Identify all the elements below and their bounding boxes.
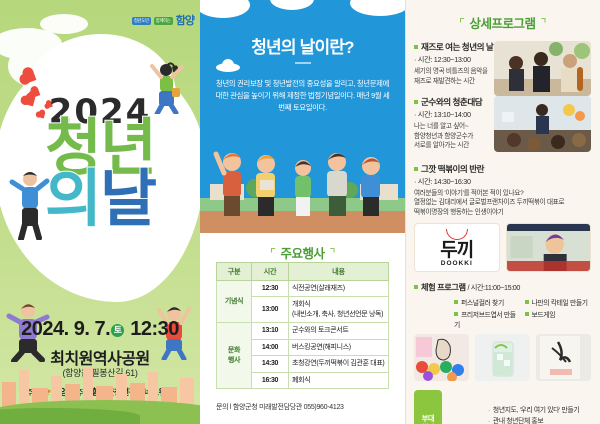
list-item: 청년지도, '우리 여기 있다' 만들기 <box>488 406 591 417</box>
students-illustration <box>200 140 405 233</box>
row-category: 문화 행사 <box>217 323 252 389</box>
left-panel: 청년도민 함께하는 함양 <box>0 0 200 424</box>
program-title: 재즈로 여는 청년의 날 <box>414 41 506 53</box>
row-time: 14:00 <box>252 339 289 355</box>
row-category: 기념식 <box>217 281 252 323</box>
experience-item-list: 퍼스널컬러 찾기 나만의 칵테일 만들기 프리저브드엽서 만들기 보드게임 <box>414 297 591 329</box>
event-date: 2024. 9. 7. <box>21 318 110 340</box>
list-item: 관내 청년단체 홍보 <box>488 417 591 424</box>
middle-paragraph: 청년의 권리보장 및 청년발전의 중요성을 알리고, 청년문제에 대한 관심을 … <box>214 78 391 115</box>
program-item: 재즈로 여는 청년의 날 · 시간: 12:30~13:00 세기의 명곡 비틀… <box>414 41 591 86</box>
list-item: 보드게임 <box>525 309 592 329</box>
day-of-week-badge: 토 <box>111 324 124 337</box>
section-title-text: 상세프로그램 <box>469 17 535 31</box>
bracket-left-icon: ⌜ <box>270 246 276 261</box>
bowl-icon <box>446 229 468 240</box>
program-text-block: 군수와의 청춘대담 · 시간: 13:10~14:00 나는 너를 알고 싶어~… <box>414 96 506 151</box>
program-title: 그깟 떡볶이의 반란 <box>414 163 591 175</box>
dookki-logo: 두끼 DOOKKI <box>414 223 500 272</box>
calligraphy-photo <box>536 334 591 381</box>
col-header-time: 시간 <box>252 263 289 281</box>
side-events-block: 부대 행사 청년지도, '우리 여기 있다' 만들기 관내 청년단체 홍보 신라… <box>414 390 591 424</box>
row-content: 군수와의 토크콘서트 <box>289 323 389 339</box>
bullet-square-icon <box>454 300 458 304</box>
program-time: · 시간: 12:30~13:00 <box>414 55 506 65</box>
row-content: 개회식 (내빈소개, 축사, 청년선언문 낭독) <box>289 297 389 323</box>
bullet-square-icon <box>414 167 418 171</box>
bullet-square-icon <box>454 312 458 316</box>
program-list: 재즈로 여는 청년의 날 · 시간: 12:30~13:00 세기의 명곡 비틀… <box>414 41 591 217</box>
program-description: 나는 너를 알고 싶어~ 함양청년과 함양군수가 서로를 알아가는 시간 <box>414 122 506 151</box>
table-header-row: 구분 시간 내용 <box>217 263 389 281</box>
city-skyline-illustration <box>0 358 200 424</box>
bracket-right-icon: ⌝ <box>330 246 336 261</box>
divider <box>295 62 311 64</box>
panel-divider <box>405 0 406 424</box>
title-syllable-ui: 의 <box>45 165 100 234</box>
list-item: 나만의 칵테일 만들기 <box>525 297 592 307</box>
talk-concert-photo <box>494 96 591 152</box>
program-time: · 시간: 14:30~16:30 <box>414 177 591 187</box>
row-content: 폐회식 <box>289 372 389 388</box>
experience-title: 체험 프로그램 <box>421 283 466 292</box>
logo-chip-2: 함께하는 <box>154 17 173 24</box>
brand-name-en: DOOKKI <box>440 261 473 268</box>
title-line-2: 의날 <box>0 171 200 228</box>
poster-main-title: 청년 의날 <box>0 120 200 228</box>
section-title-text: 주요행사 <box>280 247 324 261</box>
brand-name-kr: 두끼 <box>440 241 473 260</box>
experience-thumbnail-row <box>414 334 591 381</box>
bullet-square-icon <box>525 300 529 304</box>
row-time: 13:00 <box>252 297 289 323</box>
main-events-section-title: ⌜주요행사⌝ <box>200 243 405 262</box>
row-time: 13:10 <box>252 323 289 339</box>
program-description: 여러분들의 '이야기'를 적어본 적이 있나요? 열정없는 김대리에서 글로벌프… <box>414 189 591 218</box>
cloud-shape <box>222 59 234 71</box>
row-content: 식전공연(살래재즈) <box>289 281 389 297</box>
table-row: 기념식 12:30 식전공연(살래재즈) <box>217 281 389 297</box>
list-item: 프리저브드엽서 만들기 <box>454 309 521 329</box>
program-time: · 시간: 13:10~14:00 <box>414 110 506 120</box>
row-content: 버스킹공연(해피니스) <box>289 339 389 355</box>
side-events-tag: 부대 행사 <box>414 390 442 424</box>
title-syllable-nal: 날 <box>100 165 155 234</box>
cocktail-photo <box>475 334 530 381</box>
row-time: 14:30 <box>252 356 289 372</box>
middle-heading: 청년의 날이란? <box>200 33 405 58</box>
side-events-list: 청년지도, '우리 여기 있다' 만들기 관내 청년단체 홍보 신라의복체험, … <box>448 406 591 424</box>
jazz-performance-photo <box>494 41 591 96</box>
middle-panel: 청년의 날이란? 청년의 권리보장 및 청년발전의 중요성을 알리고, 청년문제… <box>200 0 405 424</box>
bullet-square-icon <box>414 285 418 289</box>
event-datetime: 2024. 9. 7.토 12:30 <box>0 318 200 341</box>
logo-chip-1: 청년도민 <box>132 17 151 24</box>
row-time: 16:30 <box>252 372 289 388</box>
cloud-shape <box>40 14 88 34</box>
right-panel: ⌜상세프로그램⌝ 재즈로 여는 청년의 날 <box>405 0 600 424</box>
list-item: 퍼스널컬러 찾기 <box>454 297 521 307</box>
program-item: 그깟 떡볶이의 반란 · 시간: 14:30~16:30 여러분들의 '이야기'… <box>414 163 591 218</box>
event-time: 12:30 <box>130 318 179 340</box>
col-header-content: 내용 <box>289 263 389 281</box>
experience-program-header: 체험 프로그램 / 시간:11:00~15:00 <box>414 281 591 293</box>
detail-program-section-title: ⌜상세프로그램⌝ <box>405 13 600 32</box>
program-text-block: 재즈로 여는 청년의 날 · 시간: 12:30~13:00 세기의 명곡 비틀… <box>414 41 506 86</box>
row-time: 12:30 <box>252 281 289 297</box>
row-content: 초청강연(두끼떡볶이 김관훈 대표) <box>289 356 389 372</box>
brand-logo-row: 두끼 DOOKKI <box>414 223 591 272</box>
experience-time: / 시간:11:00~15:00 <box>468 283 520 292</box>
contact-line: 문의 l 함양군청 미래발전담당관 055)960-4123 <box>216 402 344 412</box>
program-title: 군수와의 청춘대담 <box>414 96 506 108</box>
main-events-table: 구분 시간 내용 기념식 12:30 식전공연(살래재즈) 13:00 개회식 … <box>216 262 389 389</box>
program-description: 세기의 명곡 비틀즈의 음악을 재즈로 재발견하는 시간 <box>414 67 506 86</box>
bullet-square-icon <box>414 45 418 49</box>
speaker-interview-photo <box>506 223 592 272</box>
col-header-category: 구분 <box>217 263 252 281</box>
program-item: 군수와의 청춘대담 · 시간: 13:10~14:00 나는 너를 알고 싶어~… <box>414 96 591 151</box>
bullet-square-icon <box>525 312 529 316</box>
table-row: 문화 행사 13:10 군수와의 토크콘서트 <box>217 323 389 339</box>
bracket-left-icon: ⌜ <box>459 16 465 31</box>
personal-color-photo <box>414 334 469 381</box>
poster-root: 청년도민 함께하는 함양 <box>0 0 600 424</box>
logo-wordmark: 함양 <box>176 16 194 27</box>
bracket-right-icon: ⌝ <box>541 16 547 31</box>
hamyang-logo: 청년도민 함께하는 함양 <box>108 8 194 34</box>
bullet-square-icon <box>414 100 418 104</box>
